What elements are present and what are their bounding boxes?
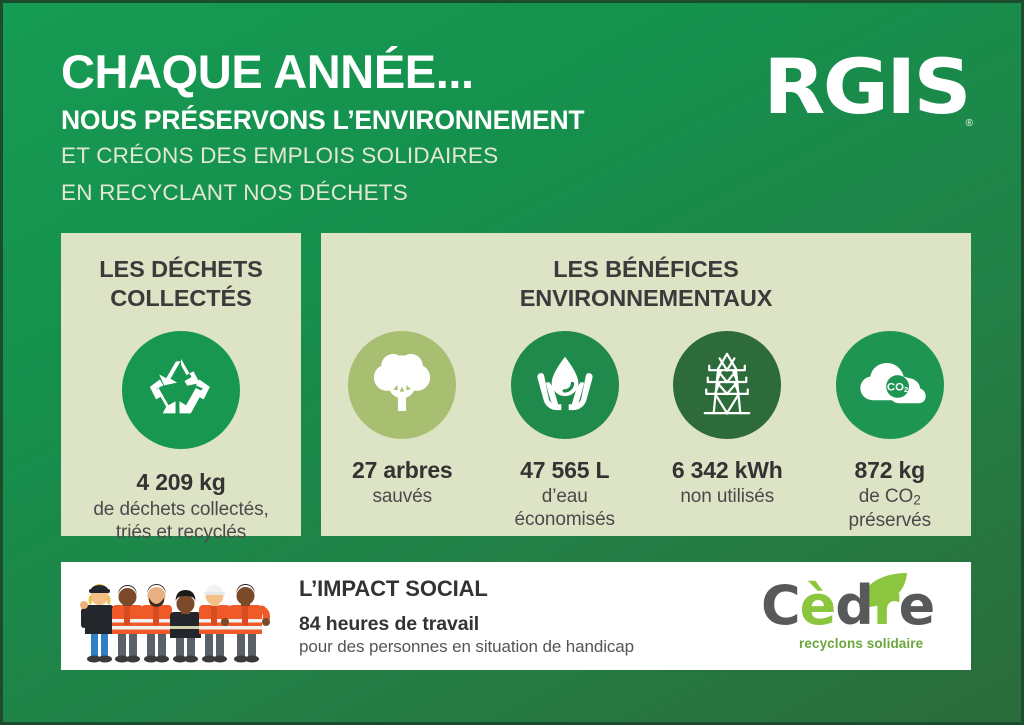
recycle-icon: [142, 351, 220, 429]
rgis-logo: RGIS: [763, 49, 969, 125]
waste-collected-panel: LES DÉCHETS COLLECTÉS 4 209 kg: [61, 233, 301, 536]
benefits-panel-title: LES BÉNÉFICES ENVIRONNEMENTAUX: [321, 255, 971, 312]
stat-energy: 6 342 kWh non utilisés: [647, 331, 807, 508]
waste-stat: 4 209 kg de déchets collectés, triés et …: [61, 331, 301, 544]
electricity-pylon-icon-circle: [673, 331, 781, 439]
stat-energy-label: non utilisés: [680, 485, 774, 508]
stat-co2-label-line2: préservés: [848, 509, 931, 532]
cedre-logo: Cèdre recyclons solidaire: [755, 573, 955, 659]
stat-co2-label-line1: de CO2: [848, 485, 931, 509]
header-line-4: EN RECYCLANT NOS DÉCHETS: [61, 177, 701, 209]
cedre-letter-r: r: [873, 574, 899, 637]
water-drop-hands-icon: [528, 348, 602, 422]
stat-trees: 27 arbres sauvés: [322, 331, 482, 508]
waste-panel-title-line2: COLLECTÉS: [61, 284, 301, 313]
stat-water-label: d’eau économisés: [515, 485, 615, 531]
recycle-icon-circle: [122, 331, 240, 449]
water-drop-hands-icon-circle: [511, 331, 619, 439]
stat-water: 47 565 L d’eau économisés: [485, 331, 645, 531]
cedre-wordmark: Cèdre: [761, 579, 934, 633]
stat-water-label-line1: d’eau: [515, 485, 615, 508]
social-impact-note: pour des personnes en situation de handi…: [299, 637, 755, 657]
waste-panel-title-line1: LES DÉCHETS: [61, 255, 301, 284]
waste-stat-value: 4 209 kg: [136, 469, 225, 496]
environmental-benefits-panel: LES BÉNÉFICES ENVIRONNEMENTAUX: [321, 233, 971, 536]
stat-trees-value: 27 arbres: [352, 457, 453, 484]
social-impact-heading: L’IMPACT SOCIAL: [299, 576, 755, 602]
stat-water-value: 47 565 L: [520, 457, 609, 484]
cedre-letter-d: d: [835, 574, 873, 637]
cedre-letter-e-accent: è: [800, 574, 836, 637]
stat-trees-label-line1: sauvés: [372, 485, 432, 508]
cedre-tagline: recyclons solidaire: [799, 636, 923, 651]
worker-4: [170, 590, 201, 663]
benefits-panel-title-line1: LES BÉNÉFICES: [321, 255, 971, 284]
infographic-poster: CHAQUE ANNÉE... NOUS PRÉSERVONS L’ENVIRO…: [0, 0, 1024, 725]
co2-cloud-icon-circle: CO2: [836, 331, 944, 439]
stat-energy-label-line1: non utilisés: [680, 485, 774, 508]
electricity-pylon-icon: [690, 348, 764, 422]
header-line-3: ET CRÉONS DES EMPLOIS SOLIDAIRES: [61, 140, 701, 172]
worker-6: [221, 584, 270, 663]
stat-water-label-line2: économisés: [515, 508, 615, 531]
cedre-letter-e: e: [899, 574, 935, 637]
waste-stat-label-line2: triés et recyclés: [93, 521, 268, 544]
waste-panel-title: LES DÉCHETS COLLECTÉS: [61, 255, 301, 312]
tree-icon-circle: [348, 331, 456, 439]
benefits-panel-title-line2: ENVIRONNEMENTAUX: [321, 284, 971, 313]
stat-trees-label: sauvés: [372, 485, 432, 508]
stat-co2-value: 872 kg: [855, 457, 925, 484]
page-subtitle: NOUS PRÉSERVONS L’ENVIRONNEMENT: [61, 106, 701, 135]
benefits-stats-row: 27 arbres sauvés: [321, 331, 971, 532]
waste-stat-label: de déchets collectés, triés et recyclés: [93, 498, 268, 544]
social-impact-hours: 84 heures de travail: [299, 613, 755, 636]
stat-co2-label-subscript: 2: [913, 492, 921, 507]
stat-co2: CO2 872 kg de CO2 préservés: [810, 331, 970, 532]
co2-cloud-icon: CO2: [852, 347, 928, 423]
tree-icon: [365, 348, 439, 422]
social-impact-text: L’IMPACT SOCIAL 84 heures de travail pou…: [289, 576, 755, 657]
header-block: CHAQUE ANNÉE... NOUS PRÉSERVONS L’ENVIRO…: [61, 47, 701, 209]
registered-trademark-icon: ®: [966, 119, 973, 129]
stat-energy-value: 6 342 kWh: [672, 457, 783, 484]
workers-svg: [61, 562, 289, 670]
waste-stat-label-line1: de déchets collectés,: [93, 498, 268, 521]
stat-co2-label-prefix: de CO: [859, 486, 913, 507]
social-impact-bar: L’IMPACT SOCIAL 84 heures de travail pou…: [61, 562, 971, 670]
page-title: CHAQUE ANNÉE...: [61, 47, 701, 97]
worker-3: [141, 584, 172, 663]
team-of-workers-illustration: [61, 562, 289, 670]
worker-1: [80, 584, 114, 662]
stat-co2-label: de CO2 préservés: [848, 485, 931, 532]
worker-2: [112, 585, 143, 663]
cedre-letter-c: C: [761, 574, 800, 637]
